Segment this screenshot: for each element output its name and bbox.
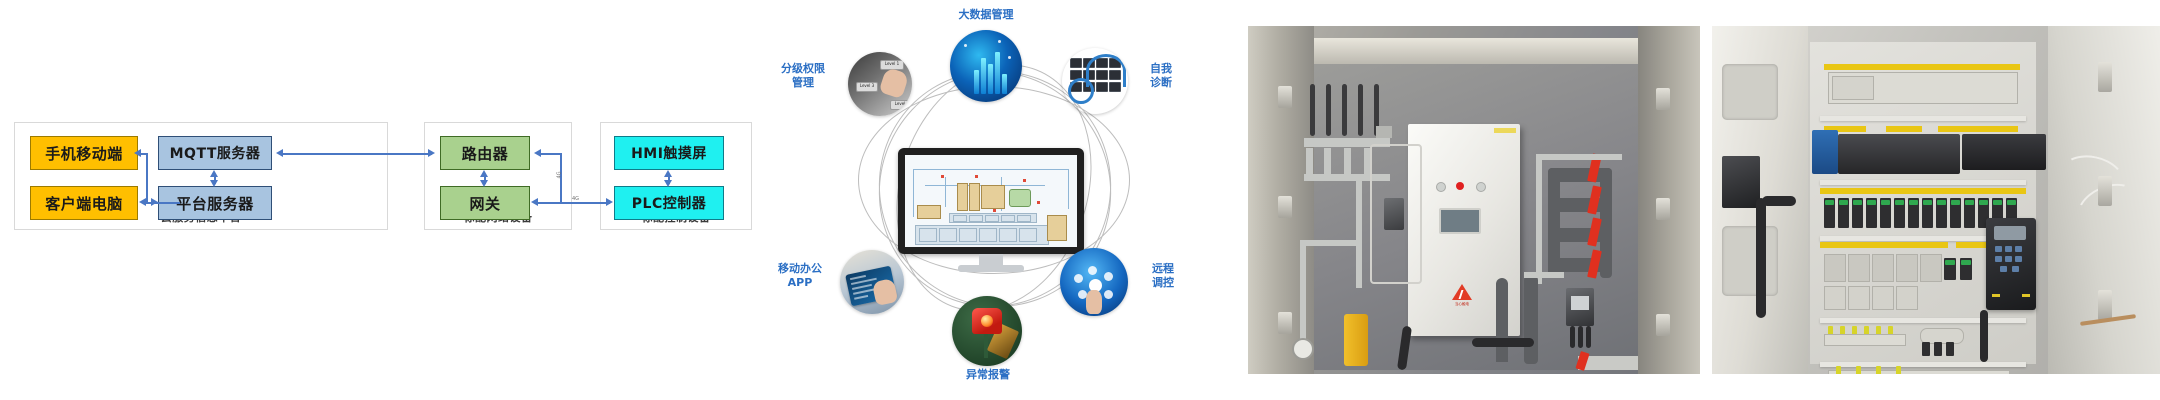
wire-label-4g-upper: 4G — [557, 171, 563, 178]
arrowhead-left-client — [139, 198, 146, 206]
scada-monitor — [898, 148, 1084, 274]
arrowhead-down-platform — [210, 180, 218, 187]
arrow-mqtt-router — [280, 153, 432, 155]
arrowhead-left-mobile — [134, 149, 141, 157]
node-gateway: 网关 — [440, 186, 530, 220]
plc-io-module — [1962, 134, 2046, 170]
remote-control-label: 远程 调控 — [1134, 262, 1192, 290]
tiered-authority-icon: Level 1 Level 3 Level — [848, 52, 912, 116]
monitor-foot — [958, 265, 1024, 272]
node-plc-controller-label: PLC控制器 — [632, 193, 706, 213]
remote-control-icon — [1060, 248, 1128, 316]
power-supply-module — [1812, 130, 1838, 174]
yellow-bollard — [1344, 314, 1368, 366]
monitor-screen — [905, 155, 1077, 247]
arrow-4g-to-router — [540, 153, 560, 155]
node-plc-controller: PLC控制器 — [614, 186, 724, 220]
bigdata-globe-icon — [950, 30, 1022, 102]
vfd-display — [1994, 226, 2026, 240]
mobile-office-app-icon — [840, 250, 904, 314]
pressure-gauge — [1292, 338, 1314, 360]
variable-frequency-drive — [1986, 218, 2036, 310]
arrowhead-right-router — [428, 149, 435, 157]
node-router: 路由器 — [440, 136, 530, 170]
arrow-to-mobile — [140, 153, 148, 155]
monitor-bezel — [898, 148, 1084, 254]
arrowhead-down-plc — [664, 180, 672, 187]
node-mobile-terminal-label: 手机移动端 — [45, 143, 123, 164]
arrowhead-right-plc — [606, 198, 613, 206]
arrow-gateway-plc — [536, 202, 610, 204]
node-platform-server-label: 平台服务器 — [176, 193, 254, 214]
arrowhead-right-platform — [151, 198, 158, 206]
arrowhead-up-router — [480, 170, 488, 177]
arrowhead-up-hmi — [664, 170, 672, 177]
arrowhead-left-router-4g — [534, 149, 541, 157]
tiered-authority-label: 分级权限 管理 — [760, 62, 846, 90]
beacon-stand — [984, 332, 988, 358]
node-client-pc: 客户端电脑 — [30, 186, 138, 220]
panel-display — [1439, 208, 1481, 234]
alarm-beacon-icon — [952, 296, 1022, 366]
node-mobile-terminal: 手机移动端 — [30, 136, 138, 170]
alarm-label: 异常报警 — [924, 368, 1052, 382]
node-client-pc-label: 客户端电脑 — [45, 193, 123, 214]
servo-drive — [1722, 156, 1760, 208]
node-mqtt-server: MQTT服务器 — [158, 136, 272, 170]
cabinet-interior — [1810, 42, 2036, 364]
warning-text: 当心触电 — [1442, 302, 1482, 307]
photo-control-cabinet: 当心触电 — [1248, 26, 1700, 374]
node-mqtt-server-label: MQTT服务器 — [170, 143, 261, 163]
bigdata-label: 大数据管理 — [920, 8, 1052, 22]
arrowhead-up-mqtt — [210, 170, 218, 177]
system-architecture-diagram: 云服务信息平台 标配网络设备 标配控制设备 手机移动端 客户端电脑 MQTT服务… — [0, 0, 740, 400]
arrowhead-down-gateway — [480, 180, 488, 187]
composite-figure: 云服务信息平台 标配网络设备 标配控制设备 手机移动端 客户端电脑 MQTT服务… — [0, 0, 2160, 400]
arrow-riser-mobile — [146, 153, 148, 203]
plc-cpu-module — [1838, 134, 1960, 174]
wire-label-4g-lower: 4G — [572, 196, 579, 202]
auth-tag-level3: Level 3 — [856, 82, 878, 92]
node-hmi-touchscreen-label: HMI触摸屏 — [631, 143, 707, 163]
auth-tag-level: Level — [890, 100, 910, 110]
iot-capability-hub-graphic: 大数据管理 Level 1 Level 3 Level 分级权限 管理 自 — [760, 0, 1220, 400]
self-diagnosis-icon — [1062, 48, 1128, 114]
arrowhead-left-mqtt — [276, 149, 283, 157]
self-diagnosis-label: 自我 诊断 — [1132, 62, 1190, 90]
node-hmi-touchscreen: HMI触摸屏 — [614, 136, 724, 170]
node-gateway-label: 网关 — [469, 193, 500, 214]
beacon-glow — [981, 315, 993, 327]
node-router-label: 路由器 — [462, 143, 509, 164]
mobile-office-app-label: 移动办公 APP — [760, 262, 840, 290]
photo-plc-cabinet — [1712, 26, 2160, 374]
arrowhead-left-gateway — [531, 198, 538, 206]
